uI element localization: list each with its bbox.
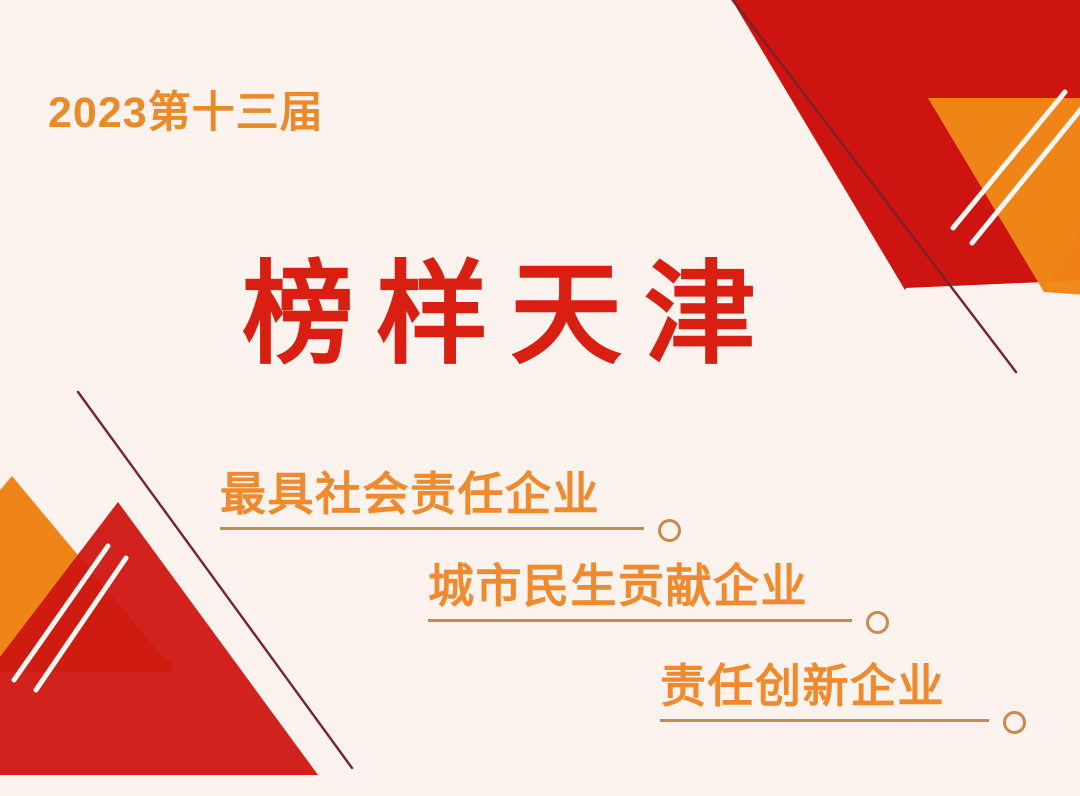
award-category-label: 最具社会责任企业 — [220, 470, 600, 530]
award-category-label: 城市民生贡献企业 — [428, 562, 808, 622]
award-underline-extension — [600, 527, 644, 530]
award-category-row: 最具社会责任企业 — [220, 470, 681, 530]
page-title: 榜样天津 — [242, 252, 778, 377]
award-underline-extension — [945, 719, 989, 722]
edition-title: 2023第十三届 — [48, 92, 324, 135]
award-underline-extension — [808, 619, 852, 622]
award-category-row: 责任创新企业 — [660, 662, 1026, 722]
award-category-label: 责任创新企业 — [660, 662, 945, 722]
award-category-row: 城市民生贡献企业 — [428, 562, 889, 622]
poster-canvas: 2023第十三届 榜样天津 最具社会责任企业 城市民生贡献企业 责任创新企业 — [0, 0, 1080, 796]
